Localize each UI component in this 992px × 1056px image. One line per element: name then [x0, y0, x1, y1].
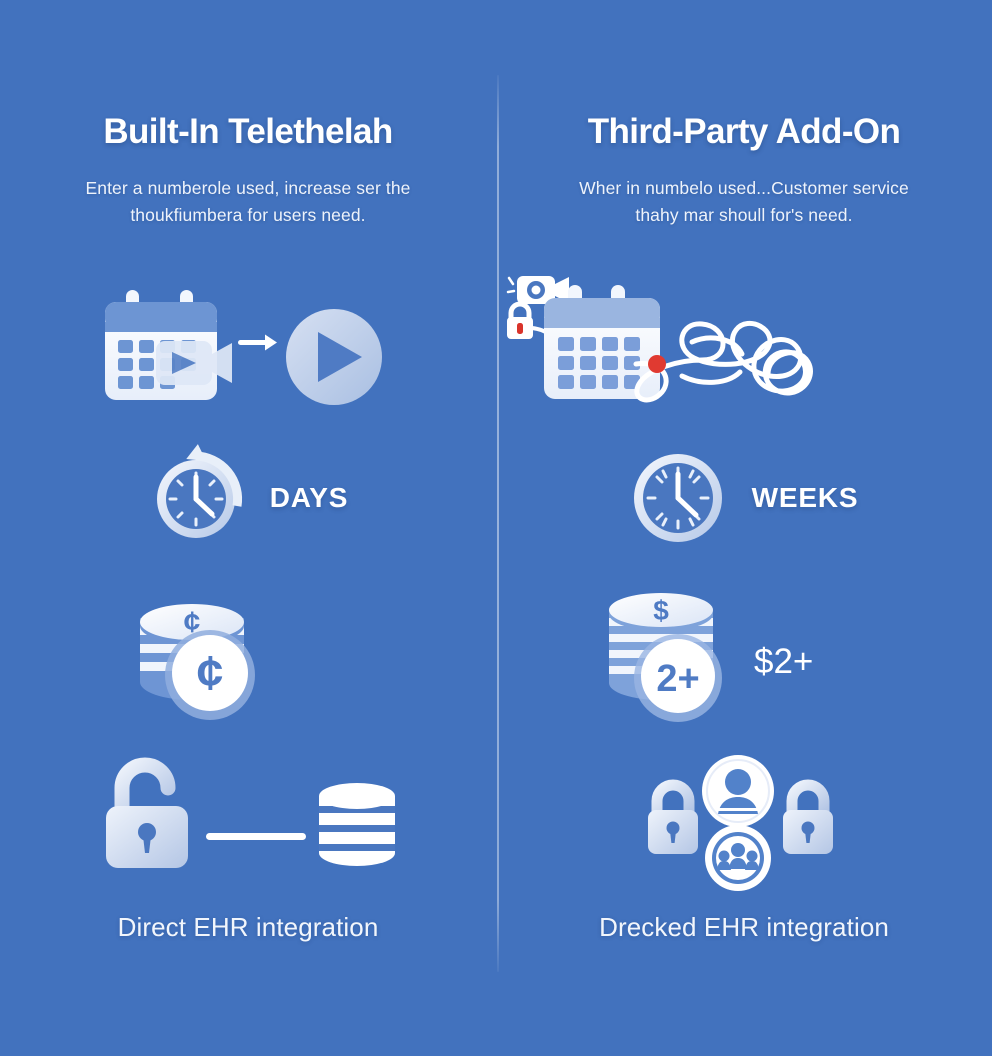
subtitle-line-2: thoukﬁumbera for users need.: [0, 202, 496, 229]
clock-icon: [630, 450, 726, 546]
cent-symbol-coin: ¢: [197, 647, 224, 700]
dollar-symbol-top: $: [653, 595, 669, 626]
subtitle-right: Wher in numbelo used...Customer service …: [496, 175, 992, 229]
database-icon: [319, 783, 395, 866]
caption-left: Direct EHR integration: [0, 912, 496, 943]
padlock-icon: [648, 785, 698, 854]
scheduling-tangle-icon-group: [496, 268, 992, 413]
two-plus-coin-icon: 2+: [634, 634, 722, 722]
unlocked-padlock-icon: [106, 765, 188, 868]
subtitle-line-2: thahy mar shoull for's need.: [496, 202, 992, 229]
page-title-right: Third-Party Add-On: [496, 112, 992, 152]
metric-label-cost: $2+: [754, 642, 813, 681]
user-avatar-icon: [702, 755, 774, 827]
subtitle-left: Enter a numberole used, increase ser the…: [0, 175, 496, 229]
integration-icon-group: [0, 758, 496, 878]
row-scheduling-left: [0, 278, 496, 408]
metric-label-days: DAYS: [270, 482, 348, 514]
padlock-red-icon: [507, 304, 533, 339]
clock-refresh-icon: [148, 450, 244, 546]
row-cost-right: $ 2+ $2+: [496, 578, 992, 728]
connector-line: [206, 833, 306, 840]
caption-right: Drecked EHR integration: [496, 912, 992, 943]
cost-icon-group: ¢ ¢: [0, 582, 496, 722]
padlock-icon: [783, 785, 833, 854]
red-dot-icon: [648, 355, 666, 373]
integration-icon-group-right: [496, 748, 992, 883]
two-plus-badge: 2+: [656, 658, 699, 700]
row-integration-right: [496, 748, 992, 883]
row-integration-left: [0, 758, 496, 878]
cent-coin-icon: ¢: [165, 630, 255, 720]
subtitle-line-1: Wher in numbelo used...Customer service: [496, 175, 992, 202]
infographic-poster: Built-In Telethelah Enter a numberole us…: [0, 0, 992, 1056]
row-time-left: DAYS: [0, 448, 496, 548]
row-scheduling-right: [496, 268, 992, 413]
play-button-icon: [286, 309, 382, 405]
arrow-right-icon: [238, 335, 277, 351]
cost-icon-group-right: $ 2+ $2+: [496, 578, 992, 728]
row-time-right: WEEKS: [496, 448, 992, 548]
scheduling-icon-group: [0, 278, 496, 408]
subtitle-line-1: Enter a numberole used, increase ser the: [0, 175, 496, 202]
column-third-party-add-on: Third-Party Add-On Wher in numbelo used.…: [496, 0, 992, 1056]
row-cost-left: ¢ ¢: [0, 582, 496, 722]
column-built-in-telehealth: Built-In Telethelah Enter a numberole us…: [0, 0, 496, 1056]
group-users-icon: [705, 825, 771, 891]
metric-label-weeks: WEEKS: [752, 482, 859, 514]
video-camera-icon: [156, 341, 232, 385]
page-title-left: Built-In Telethelah: [0, 112, 496, 152]
